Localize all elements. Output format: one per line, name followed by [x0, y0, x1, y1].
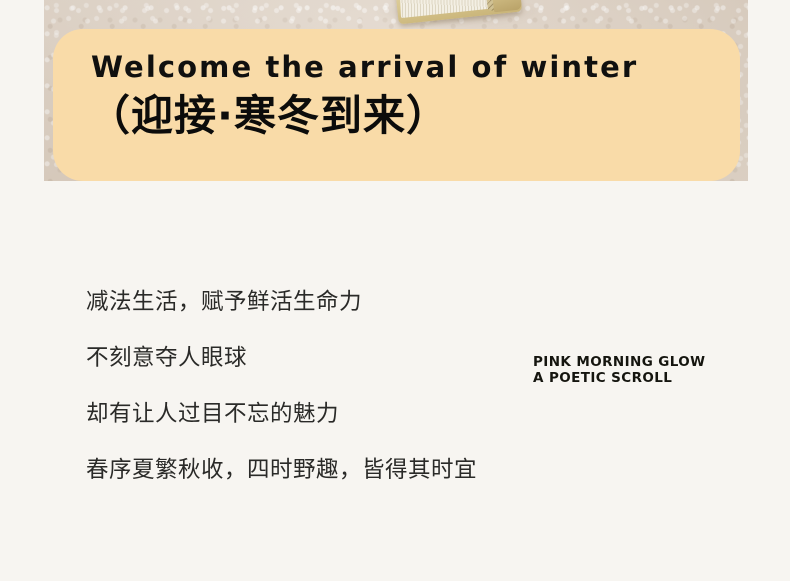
copy-line-3: 却有让人过目不忘的魅力 [86, 386, 546, 442]
tagline: PINK MORNING GLOW A POETIC SCROLL [533, 354, 705, 386]
tagline-line-1: PINK MORNING GLOW [533, 354, 705, 370]
title-card: Welcome the arrival of winter （迎接·寒冬到来） [53, 29, 740, 181]
english-title: Welcome the arrival of winter [91, 53, 638, 82]
tagline-line-2: A POETIC SCROLL [533, 370, 705, 386]
copy-line-2: 不刻意夺人眼球 [86, 330, 546, 386]
copy-line-1: 减法生活，赋予鲜活生命力 [86, 274, 546, 330]
body-copy: 减法生活，赋予鲜活生命力 不刻意夺人眼球 却有让人过目不忘的魅力 春序夏繁秋收，… [86, 274, 546, 498]
chinese-title: （迎接·寒冬到来） [88, 93, 449, 139]
copy-line-4: 春序夏繁秋收，四时野趣，皆得其时宜 [86, 442, 546, 498]
